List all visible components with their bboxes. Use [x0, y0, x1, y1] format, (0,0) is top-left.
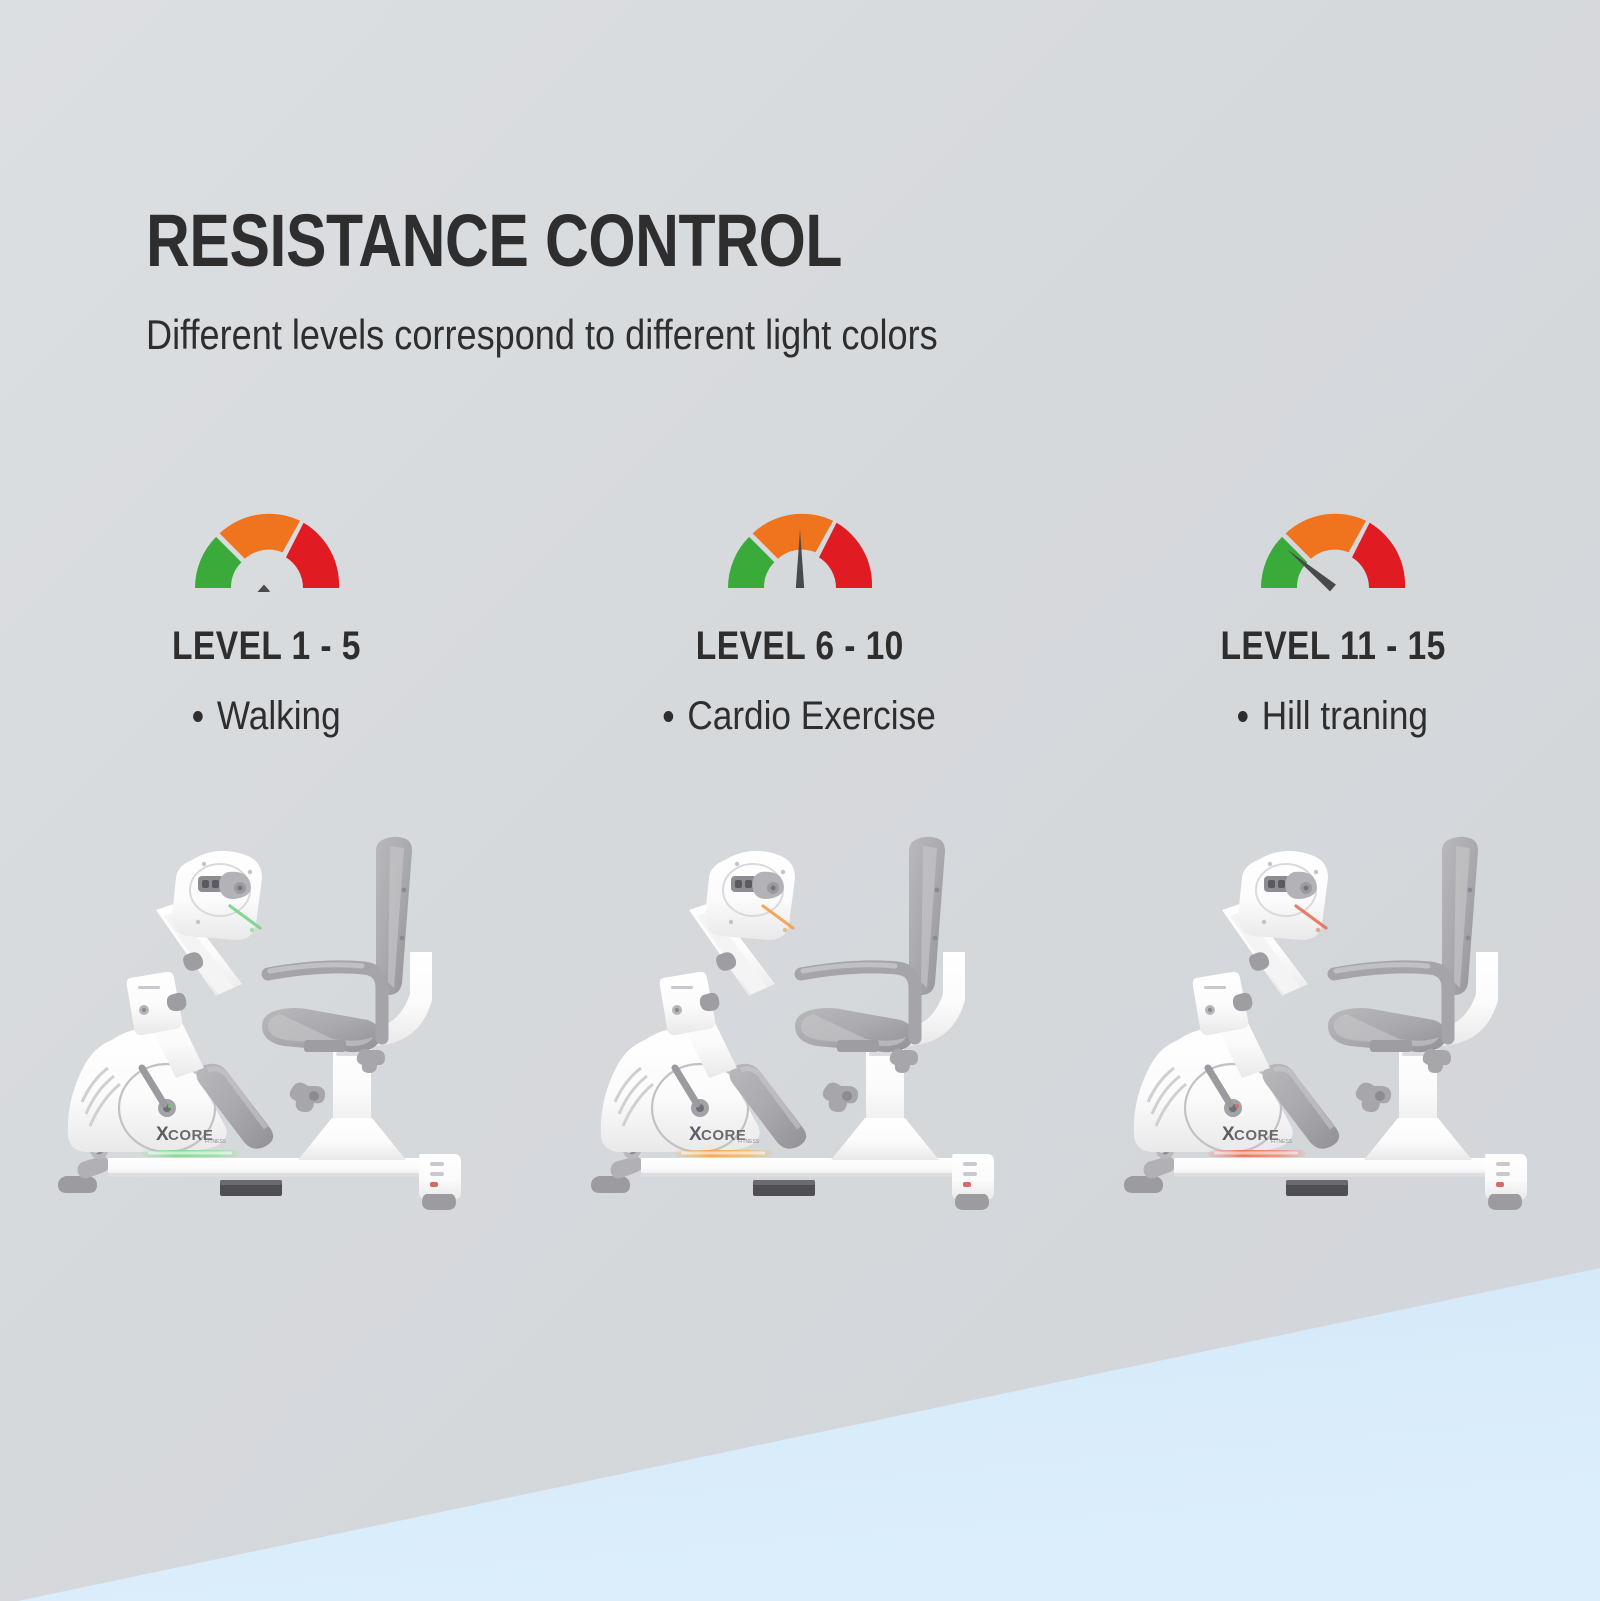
- level-title-2: LEVEL 6 - 10: [696, 624, 904, 668]
- level-title-1: LEVEL 1 - 5: [172, 624, 361, 668]
- exercise-bike-image-2: X CORE FITNESS: [585, 818, 1015, 1218]
- svg-text:FITNESS: FITNESS: [738, 1139, 760, 1145]
- bike-cell-3: X CORE FITNESS: [1067, 818, 1600, 1218]
- bikes-row: X CORE FITNESS: [0, 818, 1600, 1218]
- page-subtitle: Different levels correspond to different…: [146, 310, 1092, 360]
- heading-block: RESISTANCE CONTROL Different levels corr…: [146, 198, 1246, 360]
- level-bullet-label-1: Walking: [217, 694, 341, 738]
- level-column-1: LEVEL 1 - 5 Walking: [0, 500, 533, 738]
- level-title-3: LEVEL 11 - 15: [1221, 624, 1446, 668]
- infographic-canvas: RESISTANCE CONTROL Different levels corr…: [0, 0, 1600, 1601]
- gauge-needle-low-icon: [187, 500, 347, 592]
- level-bullet-3: Hill traning: [1238, 694, 1428, 738]
- gauge-needle-mid-icon: [720, 500, 880, 592]
- bullet-dot-icon: [1238, 711, 1248, 722]
- svg-text:FITNESS: FITNESS: [205, 1139, 227, 1145]
- level-column-2: LEVEL 6 - 10 Cardio Exercise: [533, 500, 1066, 738]
- bike-cell-1: X CORE FITNESS: [0, 818, 533, 1218]
- page-title: RESISTANCE CONTROL: [146, 198, 1048, 284]
- exercise-bike-image-3: X CORE FITNESS: [1118, 818, 1548, 1218]
- level-bullet-1: Walking: [193, 694, 341, 738]
- gauge-needle-high-icon: [1253, 500, 1413, 592]
- level-bullet-label-3: Hill traning: [1262, 694, 1428, 738]
- bike-cell-2: X CORE FITNESS: [533, 818, 1066, 1218]
- level-bullet-label-2: Cardio Exercise: [688, 694, 936, 738]
- level-column-3: LEVEL 11 - 15 Hill traning: [1067, 500, 1600, 738]
- bullet-dot-icon: [193, 711, 203, 722]
- exercise-bike-image-1: X CORE FITNESS: [52, 818, 482, 1218]
- level-bullet-2: Cardio Exercise: [664, 694, 936, 738]
- levels-row: LEVEL 1 - 5 Walking: [0, 500, 1600, 738]
- svg-text:FITNESS: FITNESS: [1271, 1139, 1293, 1145]
- bullet-dot-icon: [664, 711, 674, 722]
